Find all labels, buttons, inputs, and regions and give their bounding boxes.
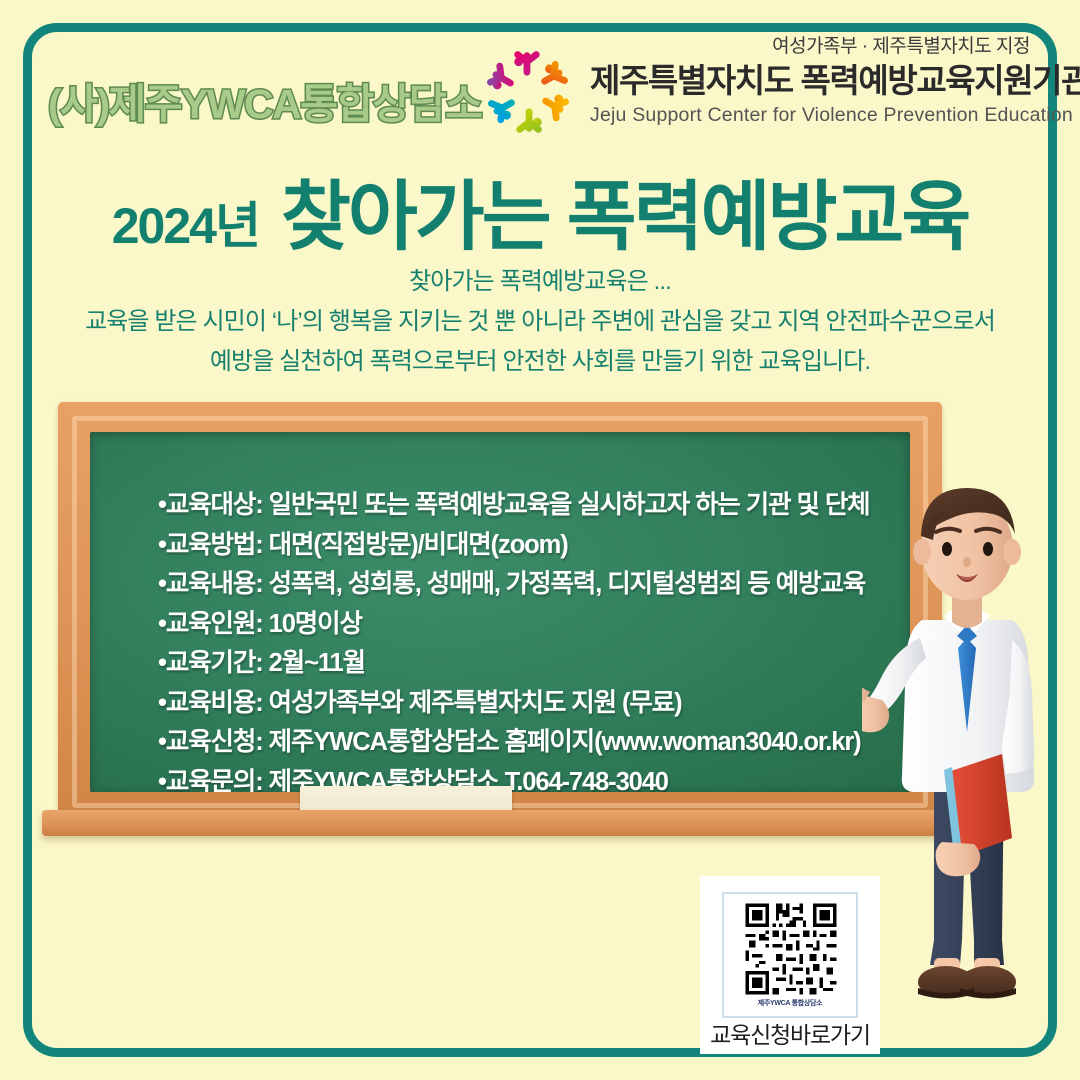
org-wordmark: (사)제주YWCA통합상담소 xyxy=(48,70,481,130)
list-item: •교육비용: 여성가족부와 제주특별자치도 지원 (무료) xyxy=(158,684,898,724)
list-item: •교육인원: 10명이상 xyxy=(158,605,898,645)
poster-header: (사)제주YWCA통합상담소 xyxy=(0,34,1080,149)
intro-paragraph: 찾아가는 폭력예방교육은 ... 교육을 받은 시민이 ‘나’의 행복을 지키는… xyxy=(0,262,1080,382)
list-item: •교육신청: 제주YWCA통합상담소 홈페이지(www.woman3040.or… xyxy=(158,723,898,763)
qr-caption: 교육신청바로가기 xyxy=(700,1016,880,1050)
title-year: 2024년 xyxy=(112,198,259,254)
title-main: 찾아가는 폭력예방교육 xyxy=(281,175,968,260)
intro-line: 교육을 받은 시민이 ‘나’의 행복을 지키는 것 뿐 아니라 주변에 관심을 … xyxy=(0,302,1080,342)
list-item: •교육문의: 제주YWCA통합상담소 T.064-748-3040 xyxy=(158,763,898,793)
chalkboard-surface: •교육대상: 일반국민 또는 폭력예방교육을 실시하고자 하는 기관 및 단체 … xyxy=(90,432,910,792)
intro-line: 예방을 실천하여 폭력으로부터 안전한 사회를 만들기 위한 교육입니다. xyxy=(0,342,1080,382)
list-item: •교육내용: 성폭력, 성희롱, 성매매, 가정폭력, 디지털성범죄 등 예방교… xyxy=(158,565,898,605)
agency-logo-text: 여성가족부 · 제주특별자치도 지정 제주특별자치도 폭력예방교육지원기관 Je… xyxy=(590,34,1030,128)
qr-code-container[interactable]: 제주YWCA 통합상담소 xyxy=(722,892,858,1018)
qr-code-icon[interactable] xyxy=(732,900,850,998)
page-title: 2024년찾아가는 폭력예방교육 xyxy=(0,155,1080,265)
people-circle-logo-icon xyxy=(476,40,580,144)
qr-embedded-logo-label: 제주YWCA 통합상담소 xyxy=(724,998,856,1008)
list-item: •교육기간: 2월~11월 xyxy=(158,644,898,684)
intro-line: 찾아가는 폭력예방교육은 ... xyxy=(0,262,1080,302)
center-name-en: Jeju Support Center for Violence Prevent… xyxy=(590,102,1030,128)
poster-canvas: (사)제주YWCA통합상담소 xyxy=(0,0,1080,1080)
designation-line: 여성가족부 · 제주특별자치도 지정 xyxy=(590,34,1030,60)
list-item: •교육방법: 대면(직접방문)/비대면(zoom) xyxy=(158,526,898,566)
list-item: •교육대상: 일반국민 또는 폭력예방교육을 실시하고자 하는 기관 및 단체 xyxy=(158,486,898,526)
chalkboard: •교육대상: 일반국민 또는 폭력예방교육을 실시하고자 하는 기관 및 단체 … xyxy=(58,402,942,850)
agency-logo-block: 여성가족부 · 제주특별자치도 지정 제주특별자치도 폭력예방교육지원기관 Je… xyxy=(472,34,1032,149)
center-name-ko: 제주특별자치도 폭력예방교육지원기관 xyxy=(590,60,1030,102)
teacher-pointing-illustration xyxy=(862,470,1077,1040)
chalk-tray xyxy=(42,810,958,836)
chalkboard-detail-list: •교육대상: 일반국민 또는 폭력예방교육을 실시하고자 하는 기관 및 단체 … xyxy=(158,486,898,792)
qr-application-block[interactable]: 제주YWCA 통합상담소 교육신청바로가기 xyxy=(700,876,880,1054)
